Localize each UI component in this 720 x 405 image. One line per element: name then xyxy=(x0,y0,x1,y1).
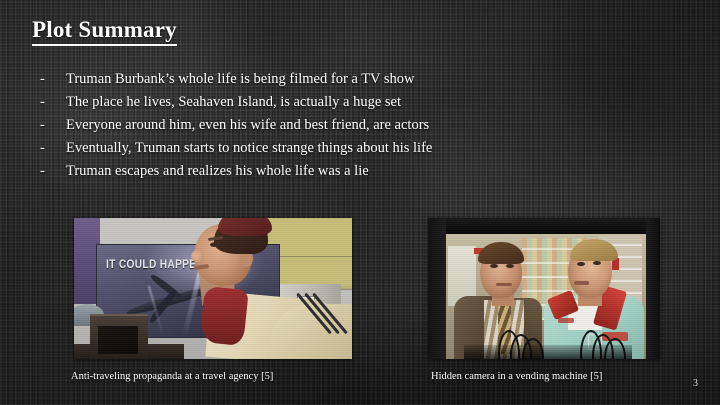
bullet-text: Truman Burbank’s whole life is being fil… xyxy=(66,68,415,91)
bullet-marker: - xyxy=(40,137,66,160)
bullet-marker: - xyxy=(40,91,66,114)
monitor-screen xyxy=(98,326,138,354)
travel-agency-scene: IT COULD HAPPEN TO xyxy=(74,218,352,359)
figure-image-right xyxy=(428,218,660,359)
man-tweed-eye xyxy=(506,264,514,268)
page-title: Plot Summary xyxy=(32,17,177,46)
figure-caption-right: Hidden camera in a vending machine [5] xyxy=(431,370,602,384)
vendor-eye xyxy=(577,262,585,266)
list-item: - Eventually, Truman starts to notice st… xyxy=(40,137,660,160)
truman-red-scarf xyxy=(199,286,249,346)
slide-number: 3 xyxy=(693,378,698,389)
scene-shadow xyxy=(464,345,632,359)
slide: Plot Summary - Truman Burbank’s whole li… xyxy=(0,0,720,405)
figure-image-left: IT COULD HAPPEN TO xyxy=(74,218,352,359)
list-item: - The place he lives, Seahaven Island, i… xyxy=(40,91,660,114)
bullet-text: Everyone around him, even his wife and b… xyxy=(66,114,429,137)
store-background xyxy=(446,234,646,359)
bullet-text: The place he lives, Seahaven Island, is … xyxy=(66,91,401,114)
vendor-mouth xyxy=(574,281,589,285)
list-item: - Truman escapes and realizes his whole … xyxy=(40,160,660,183)
bullet-marker: - xyxy=(40,68,66,91)
vending-machine-scene xyxy=(428,218,660,359)
page-title-text: Plot Summary xyxy=(32,17,177,46)
vending-frame-left xyxy=(428,218,446,359)
vending-frame-right xyxy=(646,218,660,359)
bullet-list: - Truman Burbank’s whole life is being f… xyxy=(40,68,660,183)
figure-caption-left: Anti-traveling propaganda at a travel ag… xyxy=(71,370,273,384)
bullet-marker: - xyxy=(40,160,66,183)
man-tweed-eye xyxy=(490,264,498,268)
bullet-text: Eventually, Truman starts to notice stra… xyxy=(66,137,432,160)
vendor-logo-patch xyxy=(558,318,574,323)
vendor-eye xyxy=(593,261,601,265)
bullet-marker: - xyxy=(40,114,66,137)
vending-frame-top xyxy=(428,218,660,234)
man-tweed-hair xyxy=(478,242,524,264)
truman-cap xyxy=(218,218,272,236)
man-tweed-mouth xyxy=(496,283,512,286)
list-item: - Truman Burbank’s whole life is being f… xyxy=(40,68,660,91)
list-item: - Everyone around him, even his wife and… xyxy=(40,114,660,137)
monitor xyxy=(90,314,148,359)
bullet-text: Truman escapes and realizes his whole li… xyxy=(66,160,369,183)
